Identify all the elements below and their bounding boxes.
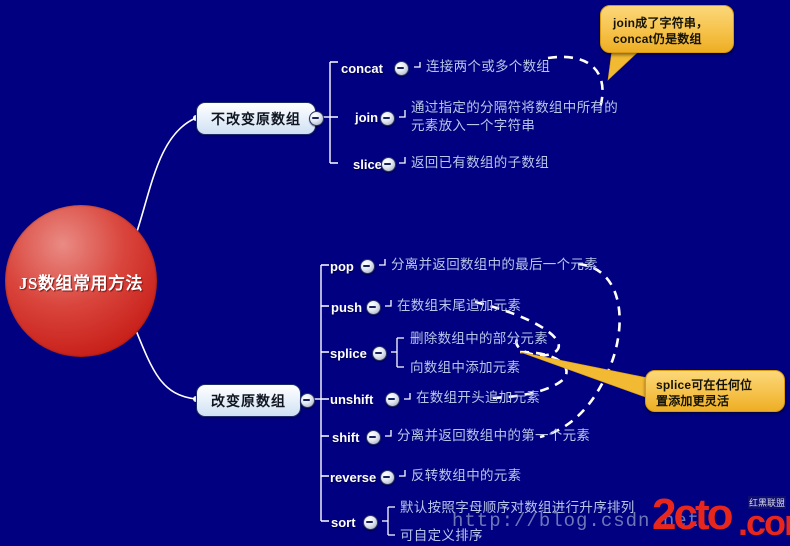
collapse-minus-icon-shift[interactable] (366, 430, 381, 445)
desc-slice: 返回已有数组的子数组 (411, 154, 549, 172)
stub-unshift (404, 393, 410, 399)
collapse-minus-icon-sort[interactable] (363, 515, 378, 530)
desc-unshift: 在数组开头追加元素 (416, 389, 540, 407)
callout-tail-join-concat (608, 50, 640, 80)
desc-concat: 连接两个或多个数组 (426, 58, 550, 76)
branch-node-no-mutate[interactable]: 不改变原数组 (196, 102, 316, 135)
callout-splice[interactable]: splice可在任何位 置添加更灵活 (645, 370, 785, 412)
collapse-minus-icon-pop[interactable] (360, 259, 375, 274)
stub-pop (379, 259, 385, 265)
stub-push (385, 300, 391, 306)
topic-splice[interactable]: splice (330, 346, 367, 361)
branch-label-no-mutate: 不改变原数组 (211, 109, 301, 129)
collapse-minus-icon-concat[interactable] (394, 61, 409, 76)
desc-reverse: 反转数组中的元素 (411, 467, 521, 485)
desc-shift: 分离并返回数组中的第一个元素 (397, 427, 590, 445)
link-root-to-mutate (131, 318, 196, 399)
stub-reverse (399, 470, 405, 476)
link-root-to-no-mutate (131, 118, 196, 249)
branch-label-mutate: 改变原数组 (211, 391, 286, 411)
desc-pop: 分离并返回数组中的最后一个元素 (391, 256, 598, 274)
stub-slice (399, 157, 405, 163)
topic-reverse[interactable]: reverse (330, 470, 376, 485)
sort-substubs (388, 507, 395, 535)
collapse-minus-icon-reverse[interactable] (380, 470, 395, 485)
collapse-minus-icon-slice[interactable] (381, 157, 396, 172)
bracket-stubs-no-mutate (330, 62, 338, 163)
topic-shift[interactable]: shift (332, 430, 359, 445)
collapse-minus-icon-unshift[interactable] (385, 392, 400, 407)
collapse-minus-icon-join[interactable] (380, 111, 395, 126)
root-label: JS数组常用方法 (19, 269, 143, 294)
bracket-stubs-mutate (321, 265, 329, 521)
watermark-logo-text: 2cto (652, 492, 730, 538)
collapse-minus-icon-push[interactable] (366, 300, 381, 315)
topic-slice[interactable]: slice (353, 157, 382, 172)
relation-pop-shift (540, 264, 620, 437)
watermark-logo: 2cto .com 红黑联盟 (652, 496, 788, 542)
stub-shift (385, 430, 391, 436)
callout-splice-line2: 置添加更灵活 (656, 393, 774, 409)
desc-push: 在数组末尾追加元素 (397, 297, 521, 315)
topic-concat[interactable]: concat (341, 61, 383, 76)
topic-join[interactable]: join (355, 110, 378, 125)
stub-join (399, 110, 405, 117)
callout-join-concat-line2: concat仍是数组 (613, 31, 721, 47)
desc-splice-2: 向数组中添加元素 (410, 359, 520, 377)
desc-splice-1: 删除数组中的部分元素 (410, 330, 548, 348)
mindmap-canvas: JS数组常用方法 不改变原数组 concat 连接两个或多个数组 join 通过… (0, 0, 790, 543)
collapse-minus-icon-no-mutate[interactable] (309, 111, 324, 126)
callout-join-concat[interactable]: join成了字符串， concat仍是数组 (600, 5, 734, 53)
watermark-logo-cn: 红黑联盟 (748, 496, 786, 509)
branch-node-mutate[interactable]: 改变原数组 (196, 384, 301, 417)
topic-push[interactable]: push (331, 300, 362, 315)
splice-substubs (397, 338, 404, 367)
topic-sort[interactable]: sort (331, 515, 356, 530)
root-node[interactable]: JS数组常用方法 (5, 205, 157, 357)
callout-splice-line1: splice可在任何位 (656, 377, 774, 393)
callout-join-concat-line1: join成了字符串， (613, 15, 721, 31)
topic-unshift[interactable]: unshift (330, 392, 373, 407)
stub-concat (414, 62, 420, 67)
desc-join: 通过指定的分隔符将数组中所有的元素放入一个字符串 (411, 99, 621, 135)
collapse-minus-icon-mutate[interactable] (300, 393, 315, 408)
topic-pop[interactable]: pop (330, 259, 354, 274)
collapse-minus-icon-splice[interactable] (372, 346, 387, 361)
